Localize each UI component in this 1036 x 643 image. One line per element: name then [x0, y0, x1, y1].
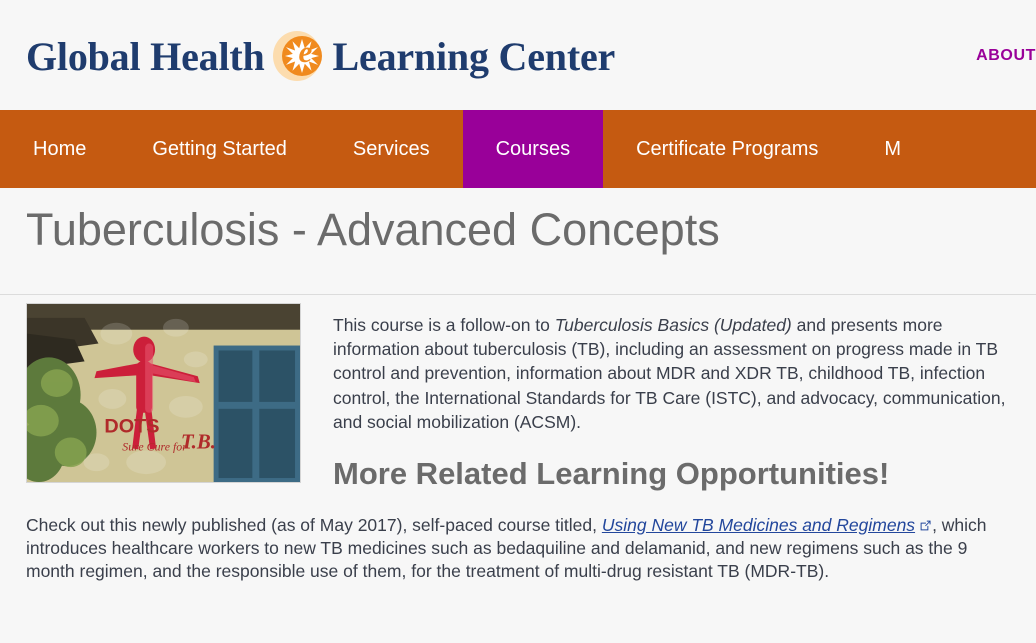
svg-text:Sure Cure for: Sure Cure for	[122, 439, 187, 453]
intro-column: This course is a follow-on to Tuberculos…	[333, 313, 1036, 492]
logo-text-left: Global Health	[26, 33, 265, 80]
page-title-band: Tuberculosis - Advanced Concepts	[0, 188, 1036, 295]
course-description: This course is a follow-on to Tuberculos…	[333, 313, 1014, 434]
bottom-text-part1: Check out this newly published (as of Ma…	[26, 515, 602, 535]
new-tb-medicines-link[interactable]: Using New TB Medicines and Regimens	[602, 515, 915, 535]
nav-item-home[interactable]: Home	[0, 110, 119, 188]
nav-item-getting-started[interactable]: Getting Started	[119, 110, 320, 188]
course-thumbnail-image: DOTS Sure Cure for T.B.	[26, 303, 301, 483]
intro-course-title-italic: Tuberculosis Basics (Updated)	[555, 315, 792, 335]
title-notch-triangle	[40, 275, 84, 294]
svg-text:DOTS: DOTS	[104, 416, 159, 438]
logo-text-right: Learning Center	[333, 33, 616, 80]
external-link-icon	[919, 519, 932, 532]
emblem-letter-e: e	[299, 34, 313, 70]
nav-item-courses[interactable]: Courses	[463, 110, 603, 188]
nav-item-services[interactable]: Services	[320, 110, 463, 188]
svg-text:T.B.: T.B.	[181, 430, 216, 453]
about-link[interactable]: ABOUT	[976, 47, 1036, 65]
related-course-paragraph: Check out this newly published (as of Ma…	[26, 514, 1010, 584]
intro-text-part1: This course is a follow-on to	[333, 315, 555, 335]
site-header: Global Health e Learning Center ABOUT	[0, 0, 1036, 110]
new-tb-medicines-link-label: Using New TB Medicines and Regimens	[602, 515, 915, 535]
dots-mural-photo: DOTS Sure Cure for T.B.	[27, 304, 300, 482]
site-logo[interactable]: Global Health e Learning Center	[26, 30, 615, 82]
page-title: Tuberculosis - Advanced Concepts	[26, 204, 720, 256]
sun-emblem-icon: e	[271, 30, 331, 82]
section-heading-related-learning: More Related Learning Opportunities!	[333, 456, 1014, 492]
nav-item-certificate-programs[interactable]: Certificate Programs	[603, 110, 851, 188]
main-content: DOTS Sure Cure for T.B. This course is a…	[0, 295, 1036, 584]
main-navigation: Home Getting Started Services Courses Ce…	[0, 110, 1036, 188]
nav-item-more[interactable]: M	[851, 110, 934, 188]
